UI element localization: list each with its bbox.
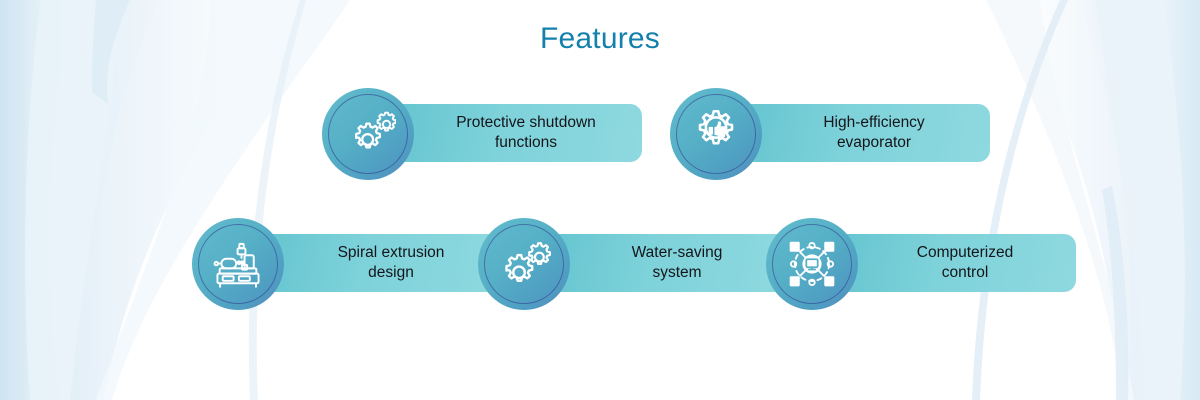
page-title: Features (0, 22, 1200, 55)
feature-label: High-efficiency evaporator (823, 113, 924, 153)
gear-thumbs-up-icon (670, 88, 762, 180)
feature-label: Water-saving system (632, 243, 723, 283)
feature-badge[interactable] (766, 218, 858, 310)
feature-label: Protective shutdown functions (456, 113, 596, 153)
two-gears-alt-icon (478, 218, 570, 310)
feature-item-protective-shutdown-functions[interactable]: Protective shutdown functions (322, 88, 414, 180)
feature-label: Spiral extrusion design (338, 243, 445, 283)
feature-bar: Protective shutdown functions (380, 104, 642, 162)
features-infographic: Features Protective shutdown functionsHi… (0, 0, 1200, 400)
network-monitor-icon (766, 218, 858, 310)
feature-label: Computerized control (917, 243, 1014, 283)
feature-badge[interactable] (322, 88, 414, 180)
feature-item-water-saving-system[interactable]: Water-saving system (478, 218, 570, 310)
feature-item-spiral-extrusion-design[interactable]: Spiral extrusion design (192, 218, 284, 310)
feature-bar: Spiral extrusion design (250, 234, 502, 292)
two-gears-icon (322, 88, 414, 180)
feature-bar: High-efficiency evaporator (728, 104, 990, 162)
feature-bar: Water-saving system (536, 234, 788, 292)
feature-item-computerized-control[interactable]: Computerized control (766, 218, 858, 310)
extruder-machine-icon (192, 218, 284, 310)
feature-item-high-efficiency-evaporator[interactable]: High-efficiency evaporator (670, 88, 762, 180)
background-waves (0, 0, 1200, 400)
feature-badge[interactable] (192, 218, 284, 310)
feature-badge[interactable] (670, 88, 762, 180)
feature-badge[interactable] (478, 218, 570, 310)
feature-bar: Computerized control (824, 234, 1076, 292)
